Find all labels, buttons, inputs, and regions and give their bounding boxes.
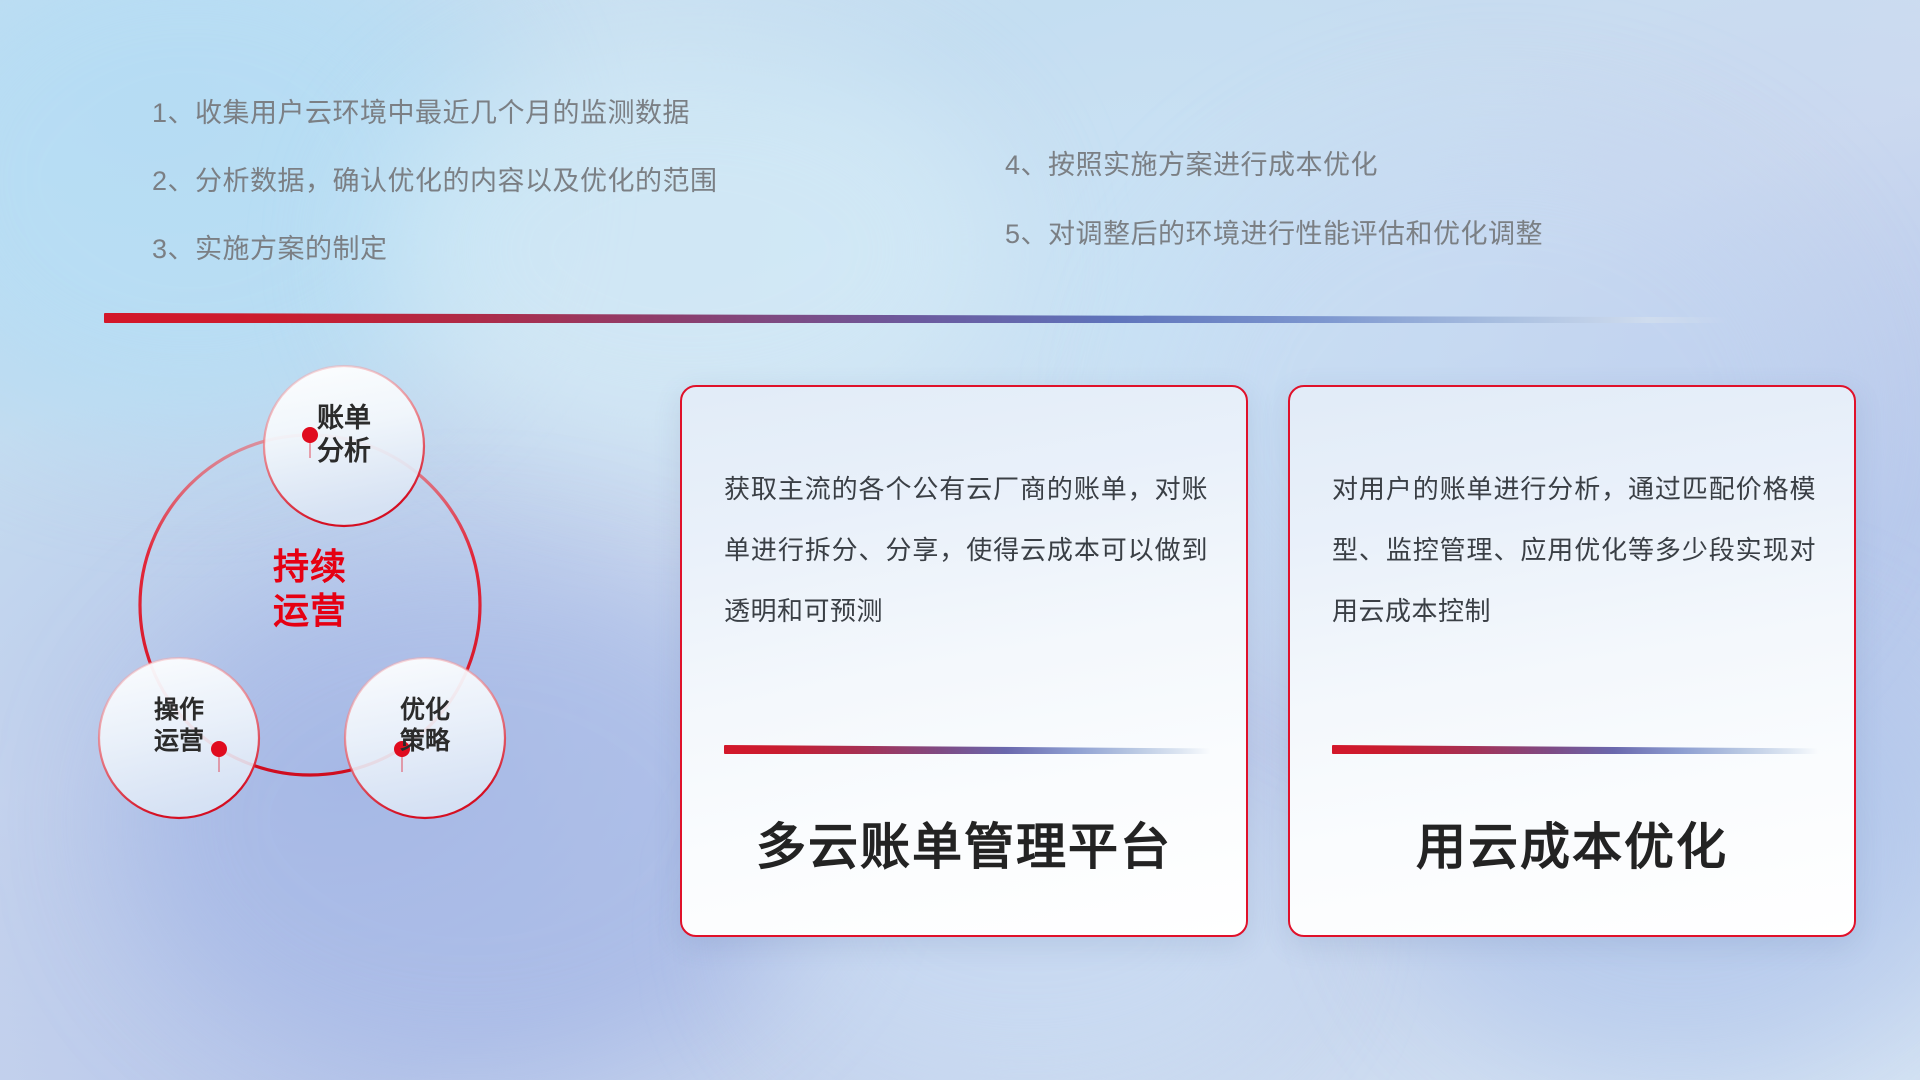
card-title: 用云成本优化 xyxy=(1290,807,1854,879)
bullet-list-right: 4、按照实施方案进行成本优化 5、对调整后的环境进行性能评估和优化调整 xyxy=(1005,152,1543,290)
feature-card-multicloud-billing[interactable]: 获取主流的各个公有云厂商的账单，对账单进行拆分、分享，使得云成本可以做到透明和可… xyxy=(680,385,1248,937)
section-divider xyxy=(104,313,1729,323)
card-divider xyxy=(724,745,1210,754)
card-body-text: 对用户的账单进行分析，通过匹配价格模型、监控管理、应用优化等多少段实现对用云成本… xyxy=(1332,459,1816,642)
venn-label-top-line1: 账单 xyxy=(264,402,424,435)
bullet-item-1: 1、收集用户云环境中最近几个月的监测数据 xyxy=(152,100,718,127)
card-divider-gradient xyxy=(724,745,1210,754)
bullet-list-left: 1、收集用户云环境中最近几个月的监测数据 2、分析数据，确认优化的内容以及优化的… xyxy=(152,100,718,304)
venn-label-top-line2: 分析 xyxy=(264,435,424,468)
venn-label-top: 账单 分析 xyxy=(264,402,424,468)
card-divider xyxy=(1332,745,1818,754)
venn-label-right-line1: 优化 xyxy=(350,695,500,726)
venn-label-left: 操作 运营 xyxy=(104,695,254,756)
bullet-item-2: 2、分析数据，确认优化的内容以及优化的范围 xyxy=(152,168,718,195)
bullet-item-4: 4、按照实施方案进行成本优化 xyxy=(1005,152,1543,179)
bullet-item-5: 5、对调整后的环境进行性能评估和优化调整 xyxy=(1005,221,1543,248)
venn-label-right: 优化 策略 xyxy=(350,695,500,756)
venn-center-label: 持续 运营 xyxy=(220,545,400,633)
card-title: 多云账单管理平台 xyxy=(682,807,1246,879)
card-body-text: 获取主流的各个公有云厂商的账单，对账单进行拆分、分享，使得云成本可以做到透明和可… xyxy=(724,459,1208,642)
venn-center-label-line2: 运营 xyxy=(220,589,400,633)
venn-label-left-line2: 运营 xyxy=(104,726,254,757)
feature-card-cloud-cost-optimization[interactable]: 对用户的账单进行分析，通过匹配价格模型、监控管理、应用优化等多少段实现对用云成本… xyxy=(1288,385,1856,937)
venn-center-label-line1: 持续 xyxy=(220,545,400,589)
section-divider-gradient xyxy=(104,313,1729,323)
venn-label-left-line1: 操作 xyxy=(104,695,254,726)
slide-canvas: 1、收集用户云环境中最近几个月的监测数据 2、分析数据，确认优化的内容以及优化的… xyxy=(0,0,1920,1080)
venn-diagram: 账单 分析 操作 运营 优化 策略 持续 运营 xyxy=(95,350,635,940)
card-divider-gradient xyxy=(1332,745,1818,754)
venn-label-right-line2: 策略 xyxy=(350,726,500,757)
bullet-item-3: 3、实施方案的制定 xyxy=(152,236,718,263)
